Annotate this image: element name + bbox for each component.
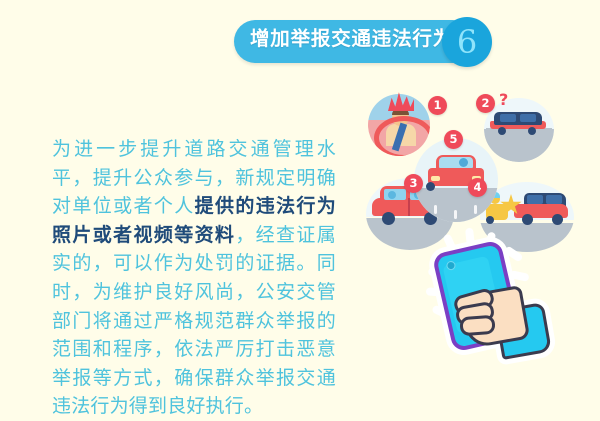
page-title: 增加举报交通违法行为 bbox=[250, 26, 458, 52]
driver-icon bbox=[459, 158, 468, 167]
car-wheel-front-icon bbox=[382, 212, 395, 225]
flash-ray-icon bbox=[506, 248, 521, 260]
scene-number-5: 5 bbox=[444, 130, 463, 149]
finger-icon bbox=[459, 315, 495, 336]
section-number: 6 bbox=[442, 17, 492, 67]
lane-marking-icon bbox=[434, 205, 437, 214]
flash-ray-icon bbox=[512, 272, 528, 279]
question-mark-icon: ? bbox=[499, 90, 508, 109]
passenger-front-icon bbox=[388, 191, 396, 199]
section-header-banner: 增加举报交通违法行为 6 bbox=[234, 17, 502, 67]
scene-number-1: 1 bbox=[428, 96, 447, 115]
car-window-rear-icon bbox=[520, 114, 536, 122]
car-wheel-front-icon bbox=[522, 214, 533, 225]
body-paragraph: 为进一步提升道路交通管理水平，提升公众参与，新规定明确对单位或者个人提供的违法行… bbox=[52, 135, 336, 421]
lane-marking-icon bbox=[454, 210, 457, 219]
car-wheel-front-icon bbox=[498, 127, 506, 135]
lane-marking-icon bbox=[474, 205, 477, 214]
car-wheel-left-icon bbox=[426, 182, 435, 191]
car-wheel-rear-icon bbox=[552, 214, 563, 225]
hand-holding-phone bbox=[420, 238, 546, 368]
car-door-line-icon bbox=[408, 198, 410, 216]
flash-ray-icon bbox=[467, 230, 473, 245]
car-window-front-icon bbox=[500, 114, 516, 122]
car-window-rear-icon bbox=[546, 195, 562, 204]
flash-ray-icon bbox=[445, 236, 455, 251]
headlight-left-icon bbox=[431, 176, 440, 181]
front-view-car-scene bbox=[414, 138, 498, 222]
car-window-front-icon bbox=[527, 195, 543, 204]
illustration-stage: 1 2 ? bbox=[356, 78, 600, 403]
scene-number-3: 3 bbox=[404, 174, 423, 193]
infographic-page: 增加举报交通违法行为 6 为进一步提升道路交通管理水平，提升公众参与，新规定明确… bbox=[0, 0, 600, 403]
car-wheel-rear-icon bbox=[528, 127, 536, 135]
scene-number-2: 2 bbox=[476, 94, 495, 113]
scene-number-4: 4 bbox=[468, 178, 487, 197]
body-text-part-2: ，经查证属实的，可以作为处罚的证据。同时，为维护良好风尚，公安交管部门将通过严格… bbox=[52, 224, 336, 418]
